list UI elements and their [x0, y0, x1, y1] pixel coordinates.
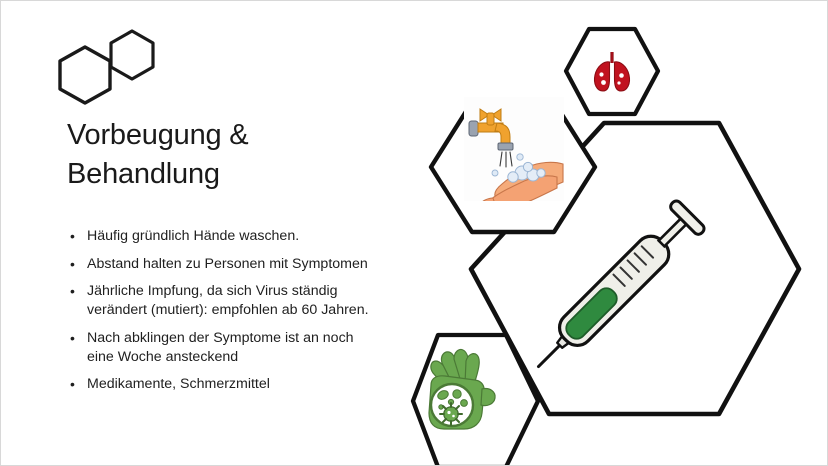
presentation-slide: Vorbeugung & Behandlung • Häufig gründli… — [0, 0, 828, 466]
bullet-list: • Häufig gründlich Hände waschen. • Abst… — [65, 227, 377, 403]
bullet-marker: • — [70, 375, 75, 393]
bullet-marker: • — [70, 255, 75, 273]
list-item: • Abstand halten zu Personen mit Symptom… — [65, 255, 377, 274]
title-line-1: Vorbeugung & — [67, 116, 397, 155]
hexagon-big-empty — [471, 123, 799, 414]
bullet-text: Nach abklingen der Symptome ist an noch … — [87, 329, 377, 366]
list-item: • Nach abklingen der Symptome ist an noc… — [65, 329, 377, 366]
list-item: • Jährliche Impfung, da sich Virus ständ… — [65, 282, 377, 319]
list-item: • Häufig gründlich Hände waschen. — [65, 227, 377, 246]
bullet-text: Jährliche Impfung, da sich Virus ständig… — [87, 282, 377, 319]
bullet-text: Medikamente, Schmerzmittel — [87, 375, 377, 394]
hexagon-handwashing — [431, 97, 595, 232]
page-title: Vorbeugung & Behandlung — [67, 116, 397, 193]
bullet-marker: • — [70, 227, 75, 245]
list-item: • Medikamente, Schmerzmittel — [65, 375, 377, 394]
syringe-icon — [524, 199, 706, 381]
virus-spikes-icon — [440, 403, 462, 425]
logo-hexagon-large — [60, 47, 110, 103]
lungs-icon — [594, 52, 629, 91]
bullet-marker: • — [70, 329, 75, 347]
title-line-2: Behandlung — [67, 155, 397, 194]
logo-hexagon-small — [111, 31, 153, 79]
hexagon-contaminated-hand — [413, 335, 538, 466]
bullet-marker: • — [70, 282, 75, 300]
handwashing-faucet-icon — [464, 97, 564, 221]
bullet-text: Abstand halten zu Personen mit Symptomen — [87, 255, 377, 274]
hexagon-lungs — [566, 29, 658, 114]
bullet-text: Häufig gründlich Hände waschen. — [87, 227, 377, 246]
germ-hand-icon — [429, 349, 495, 429]
two-hexagons-logo — [53, 25, 165, 107]
